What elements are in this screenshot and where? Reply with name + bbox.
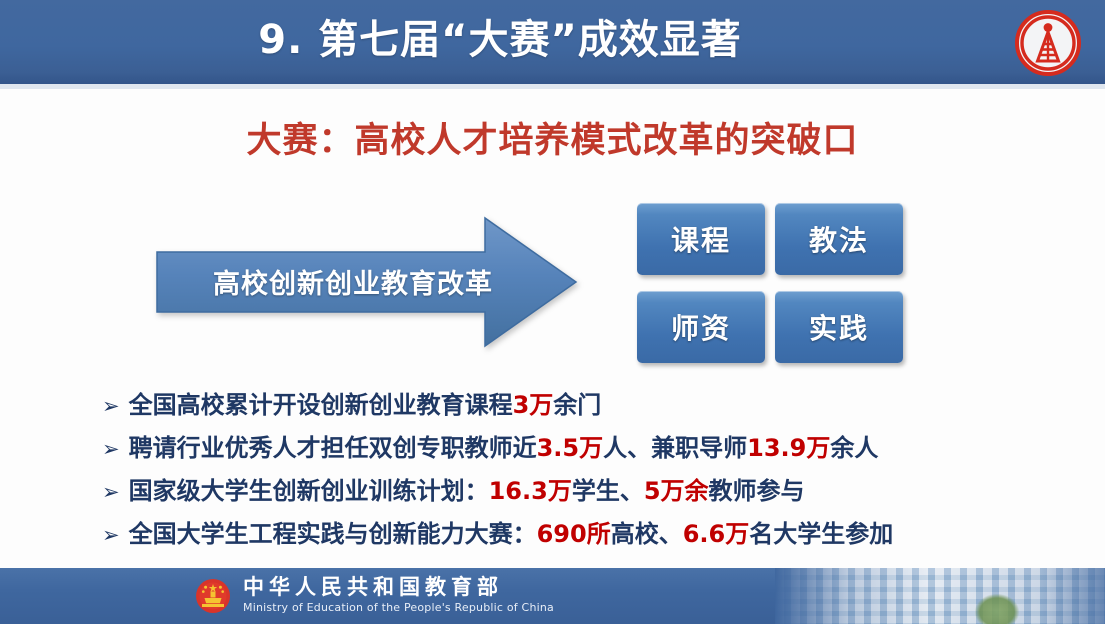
concept-box-label: 师资 — [671, 307, 731, 347]
concept-box-label: 课程 — [671, 219, 731, 259]
highlighted-figure: 6.6万 — [683, 520, 750, 548]
page-title: 9. 第七届“大赛”成效显著 — [0, 8, 1000, 72]
concept-box-label: 教法 — [809, 219, 869, 259]
arrowhead-bullet-icon: ➢ — [102, 396, 120, 417]
concept-box-grid: 课程 教法 师资 实践 — [637, 203, 903, 363]
bullet-list: ➢ 全国高校累计开设创新创业教育课程3万余门 ➢ 聘请行业优秀人才担任双创专职教… — [102, 385, 1062, 557]
plain-text-run: 余人 — [830, 434, 878, 462]
plain-text-run: 余门 — [553, 391, 601, 419]
slide: 9. 第七届“大赛”成效显著 大赛：高校人才培养模式改革的突破口 — [0, 0, 1105, 624]
list-item-text: 国家级大学生创新创业训练计划：16.3万学生、5万余教师参与 — [129, 471, 805, 506]
concept-box-label: 实践 — [809, 307, 869, 347]
plain-text-run: 国家级大学生创新创业训练计划： — [129, 477, 489, 505]
highlighted-figure: 13.9万 — [747, 434, 830, 462]
slide-subtitle: 大赛：高校人才培养模式改革的突破口 — [0, 112, 1105, 163]
plain-text-run: 教师参与 — [709, 477, 805, 505]
ministry-name-cn: 中华人民共和国教育部 — [243, 574, 554, 600]
concept-box-practice[interactable]: 实践 — [775, 291, 903, 363]
arrowhead-bullet-icon: ➢ — [102, 439, 120, 460]
reform-diagram: 高校创新创业教育改革 课程 教法 师资 实践 — [0, 190, 1105, 375]
highlighted-figure: 690所 — [537, 520, 611, 548]
list-item: ➢ 全国高校累计开设创新创业教育课程3万余门 — [102, 385, 1062, 428]
highlighted-figure: 3.5万 — [537, 434, 604, 462]
list-item: ➢ 国家级大学生创新创业训练计划：16.3万学生、5万余教师参与 — [102, 471, 1062, 514]
china-national-emblem-icon — [194, 577, 232, 615]
highlighted-figure: 3万 — [513, 391, 554, 419]
ministry-name-en: Ministry of Education of the People's Re… — [243, 600, 554, 616]
highlighted-figure: 16.3万 — [489, 477, 572, 505]
highlighted-figure: 5万余 — [644, 477, 709, 505]
arrowhead-bullet-icon: ➢ — [102, 525, 120, 546]
plain-text-run: 人、兼职导师 — [603, 434, 747, 462]
list-item-text: 聘请行业优秀人才担任双创专职教师近3.5万人、兼职导师13.9万余人 — [129, 428, 879, 463]
plain-text-run: 高校、 — [611, 520, 683, 548]
list-item: ➢ 全国大学生工程实践与创新能力大赛：690所高校、6.6万名大学生参加 — [102, 514, 1062, 557]
plain-text-run: 名大学生参加 — [749, 520, 893, 548]
list-item-text: 全国大学生工程实践与创新能力大赛：690所高校、6.6万名大学生参加 — [129, 514, 894, 549]
tower-emblem-icon — [1015, 10, 1081, 76]
concept-box-faculty[interactable]: 师资 — [637, 291, 765, 363]
plain-text-run: 学生、 — [572, 477, 644, 505]
plain-text-run: 聘请行业优秀人才担任双创专职教师近 — [129, 434, 537, 462]
list-item-text: 全国高校累计开设创新创业教育课程3万余门 — [129, 385, 602, 420]
footer-text-block: 中华人民共和国教育部 Ministry of Education of the … — [243, 574, 554, 616]
plain-text-run: 全国大学生工程实践与创新能力大赛： — [129, 520, 537, 548]
tree-decoration — [975, 594, 1019, 624]
list-item: ➢ 聘请行业优秀人才担任双创专职教师近3.5万人、兼职导师13.9万余人 — [102, 428, 1062, 471]
header-divider — [0, 84, 1105, 89]
slide-header: 9. 第七届“大赛”成效显著 — [0, 0, 1105, 84]
concept-box-curriculum[interactable]: 课程 — [637, 203, 765, 275]
ministry-building-photo — [775, 568, 1105, 624]
slide-footer: 中华人民共和国教育部 Ministry of Education of the … — [0, 568, 1105, 624]
arrowhead-bullet-icon: ➢ — [102, 482, 120, 503]
plain-text-run: 全国高校累计开设创新创业教育课程 — [129, 391, 513, 419]
arrow-label: 高校创新创业教育改革 — [183, 262, 523, 301]
concept-box-teaching-method[interactable]: 教法 — [775, 203, 903, 275]
right-arrow-shape: 高校创新创业教育改革 — [155, 212, 580, 352]
